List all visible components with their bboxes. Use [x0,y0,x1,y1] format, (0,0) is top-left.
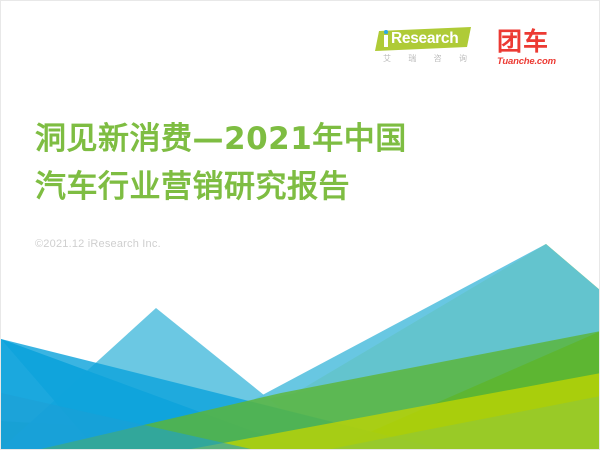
shape-green-diagonal [1,421,471,449]
iresearch-subtitle-char-4: 询 [459,53,467,64]
iresearch-i-dot-icon [384,30,388,34]
tuanche-domain: Tuanche.com [497,56,581,67]
tuanche-chinese-wordmark: 团车 [497,28,581,55]
tuanche-logo: 团车 Tuanche.com [497,27,581,72]
shape-green-overlay [41,331,600,449]
iresearch-subtitle-char-2: 瑞 [408,53,416,64]
iresearch-wordmark: Research [391,29,458,48]
shape-strongblue-left [1,339,301,449]
page-title: 洞见新消费—2021年中国 汽车行业营销研究报告 [35,115,407,211]
iresearch-subtitle-char-1: 艾 [383,53,391,64]
iresearch-i-stem-icon [384,35,388,47]
title-line-2: 汽车行业营销研究报告 [35,163,407,211]
iresearch-subtitle-char-3: 咨 [434,53,442,64]
iresearch-subtitle: 艾 瑞 咨 询 [383,53,467,64]
iresearch-logo: Research 艾 瑞 咨 询 [375,27,471,71]
copyright-text: ©2021.12 iResearch Inc. [35,238,161,250]
shape-green-overlay-2 [191,373,600,449]
shape-lightblue-right [161,244,600,449]
title-line-1: 洞见新消费—2021年中国 [35,115,407,163]
logo-bar: Research 艾 瑞 咨 询 团车 Tuanche.com [375,27,581,72]
shape-green-overlay-3 [331,396,600,449]
shape-teal-intersection [1,393,251,449]
shape-yellow-green-right [201,244,600,449]
shape-green-bottom [1,331,600,449]
report-cover-slide: Research 艾 瑞 咨 询 团车 Tuanche.com 洞见新消费—20… [0,0,600,450]
shape-lightblue-peak [1,308,331,449]
shape-strongblue-band [1,339,441,449]
iresearch-mark: Research [375,27,471,51]
